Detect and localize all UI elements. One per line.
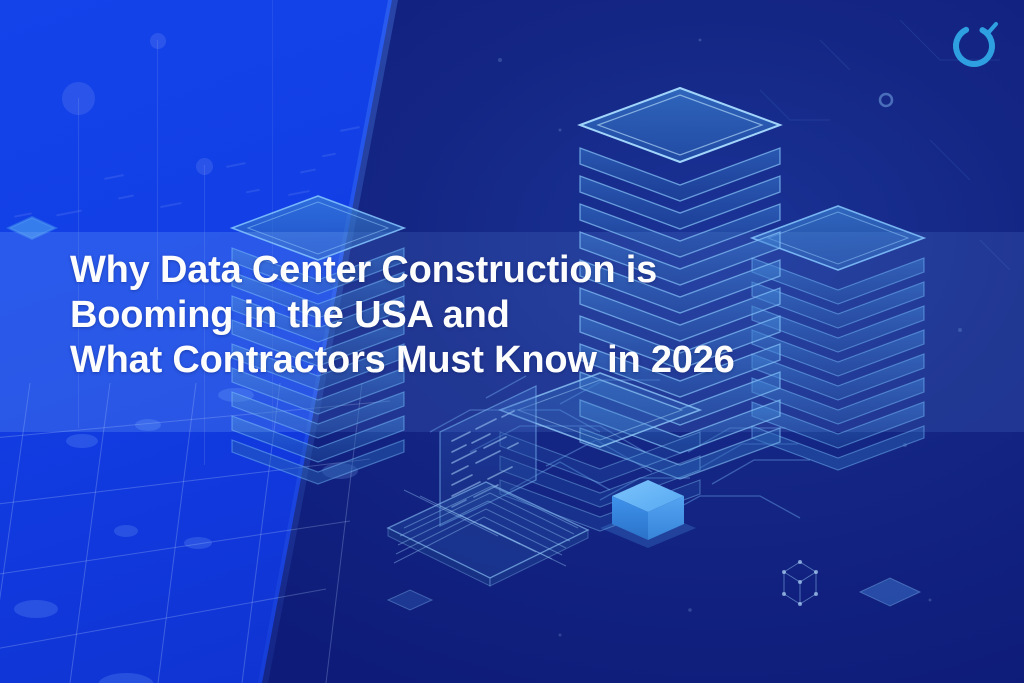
title-line-1: Why Data Center Construction is: [70, 248, 970, 293]
hero-banner: Why Data Center Construction is Booming …: [0, 0, 1024, 683]
wireframe-cube: [782, 560, 818, 606]
page-title: Why Data Center Construction is Booming …: [70, 248, 970, 383]
title-line-3: What Contractors Must Know in 2026: [70, 338, 970, 383]
circle-ring-logo-icon: [946, 14, 1006, 74]
title-line-2: Booming in the USA and: [70, 293, 970, 338]
brand-logo[interactable]: [946, 14, 1006, 74]
